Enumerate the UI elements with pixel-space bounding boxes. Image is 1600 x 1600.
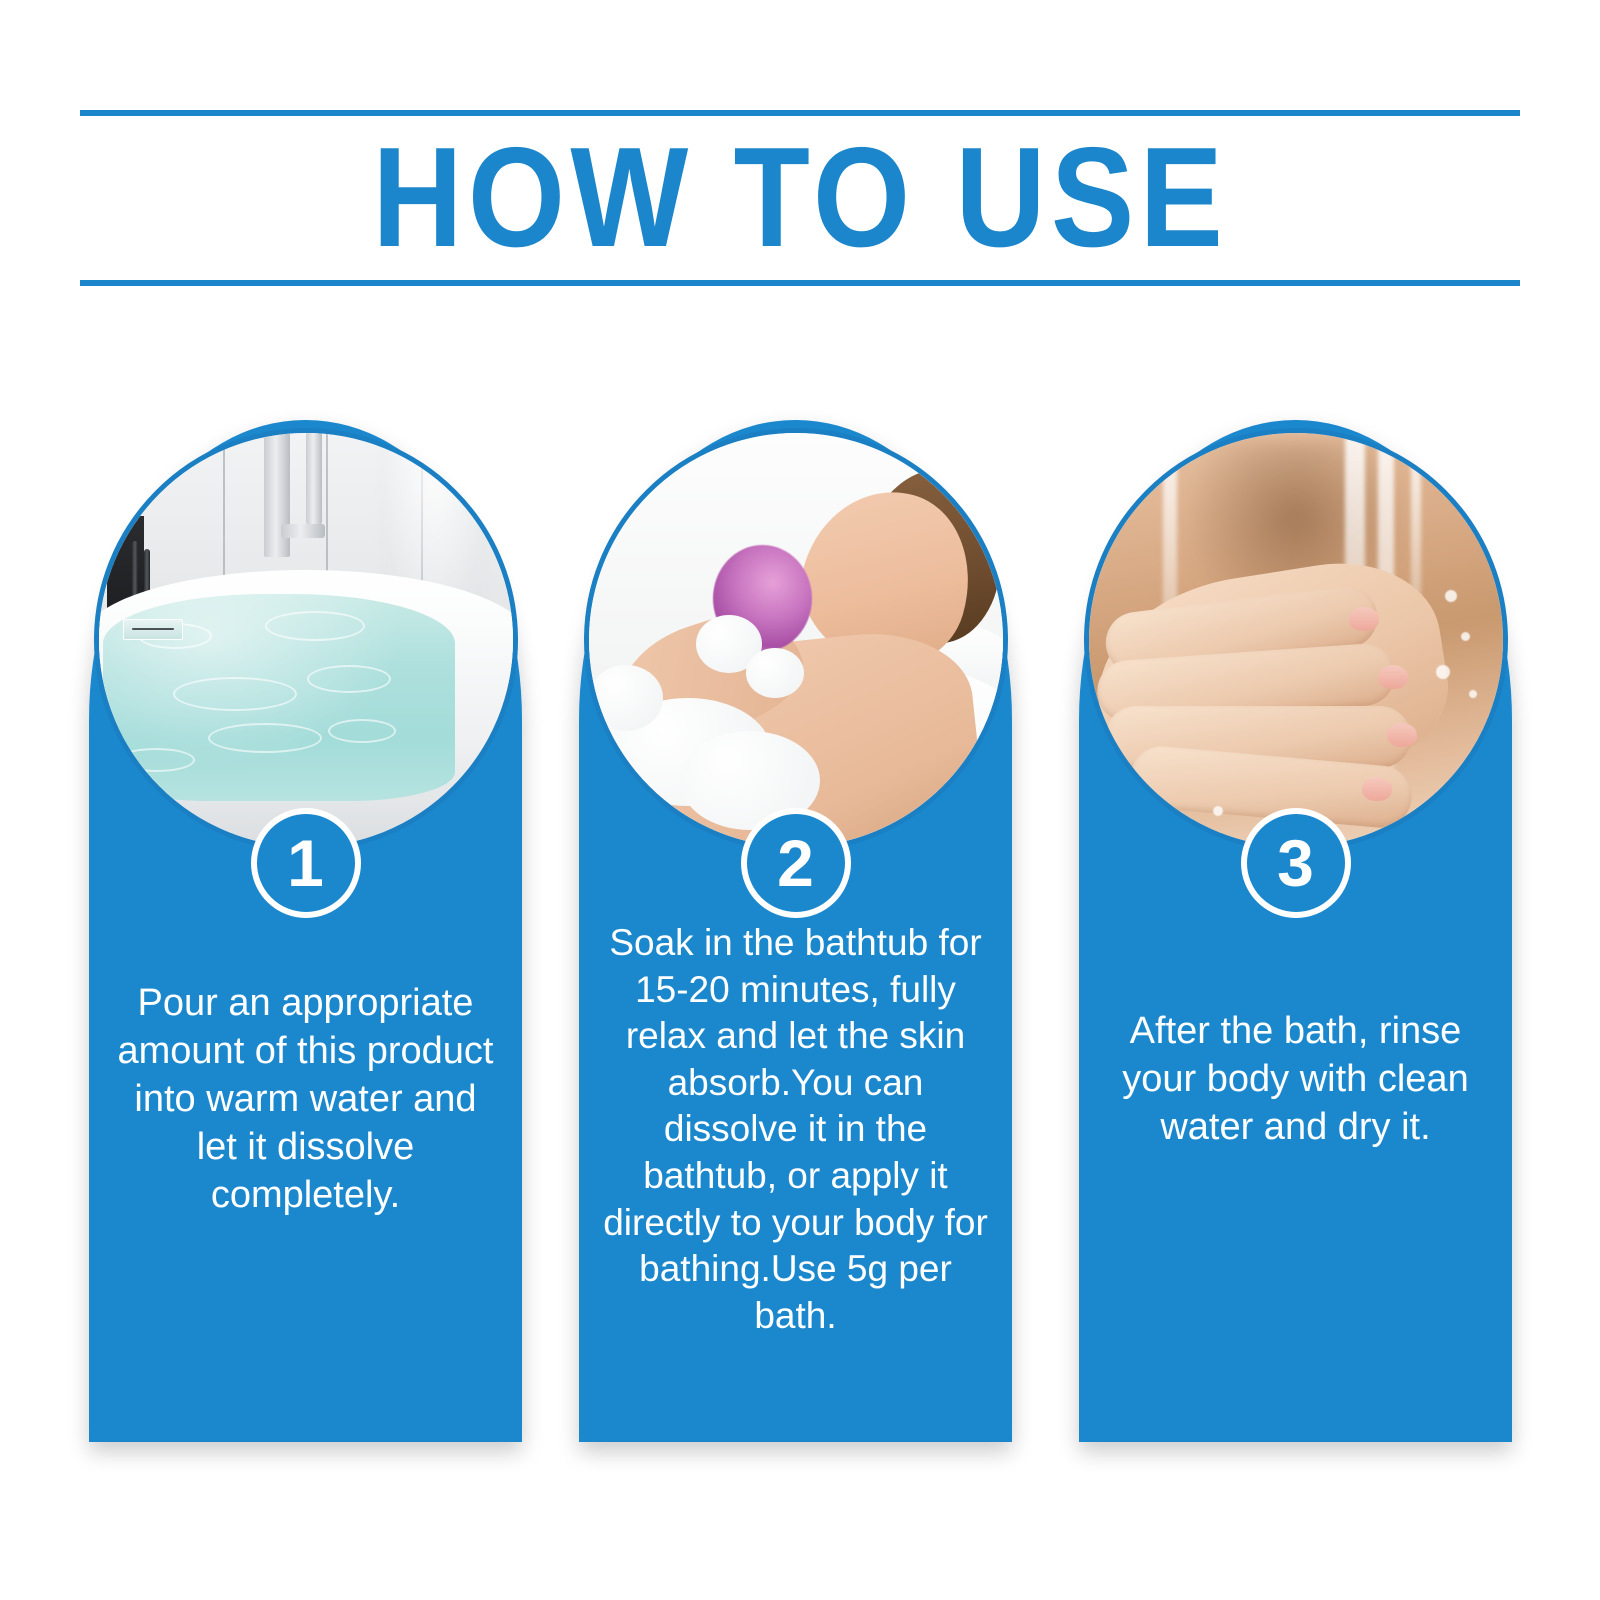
- shower-fixture: [281, 524, 325, 538]
- shower-fixture: [306, 433, 322, 524]
- step-card-1: 1 Pour an appropriate amount of this pro…: [89, 420, 522, 1442]
- step-caption-2: Soak in the bathtub for 15-20 minutes, f…: [601, 920, 990, 1339]
- bath-foam: [746, 648, 804, 698]
- bath-foam: [589, 665, 664, 731]
- water-ripple: [208, 723, 322, 753]
- fingernail: [1362, 777, 1392, 801]
- step-image-2: [584, 428, 1008, 852]
- step-number-2: 2: [777, 830, 814, 896]
- step-image-3: [1084, 428, 1508, 852]
- fingernail: [1378, 665, 1408, 689]
- fingernail: [1349, 607, 1379, 631]
- step-caption-1: Pour an appropriate amount of this produ…: [111, 980, 500, 1219]
- step-card-2: 2 Soak in the bathtub for 15-20 minutes,…: [579, 420, 1012, 1442]
- step-card-3: 3 After the bath, rinse your body with c…: [1079, 420, 1512, 1442]
- page-title: HOW TO USE: [372, 127, 1228, 269]
- shower-fixture: [264, 433, 290, 557]
- step-number-3: 3: [1277, 830, 1314, 896]
- hand-washing-scene: [1089, 433, 1503, 847]
- step-badge-1: 1: [251, 808, 361, 918]
- step-badge-2: 2: [741, 808, 851, 918]
- steps-row: 1 Pour an appropriate amount of this pro…: [0, 420, 1600, 1480]
- fingernail: [1387, 723, 1417, 747]
- header-rule-bottom: [80, 280, 1520, 286]
- step-number-1: 1: [287, 830, 324, 896]
- tub-overflow-drain: [123, 619, 183, 640]
- woman-bathing-scene: [589, 433, 1003, 847]
- page-title-wrap: HOW TO USE: [80, 116, 1520, 280]
- bathtub-scene: [99, 433, 513, 847]
- step-caption-3: After the bath, rinse your body with cle…: [1101, 1008, 1490, 1152]
- step-image-1: [94, 428, 518, 852]
- water-droplet: [1213, 806, 1223, 816]
- water-ripple: [307, 665, 391, 693]
- page-header: HOW TO USE: [80, 110, 1520, 286]
- water-droplet: [1461, 632, 1470, 641]
- water-ripple: [265, 611, 365, 641]
- water-droplet: [1469, 690, 1477, 698]
- step-badge-3: 3: [1241, 808, 1351, 918]
- water-ripple: [173, 677, 297, 711]
- water-ripple: [117, 748, 195, 772]
- water-droplet: [1436, 665, 1450, 679]
- water-ripple: [328, 719, 396, 743]
